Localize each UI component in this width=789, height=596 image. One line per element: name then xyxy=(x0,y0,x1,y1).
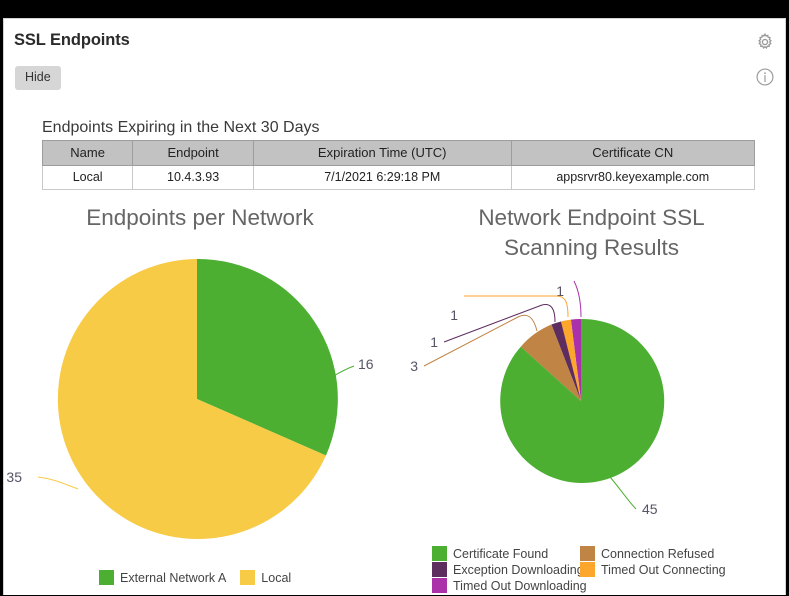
expiring-endpoints-table: Name Endpoint Expiration Time (UTC) Cert… xyxy=(42,140,755,190)
chart-title-endpoints-per-network: Endpoints per Network xyxy=(4,203,396,233)
legend-label-exception-downloading: Exception Downloading xyxy=(453,563,584,577)
legend-swatch-external-network-a xyxy=(99,570,114,585)
legend-swatch-timed-out-downloading xyxy=(432,578,447,593)
legend-item-timed-out-connecting[interactable]: Timed Out Connecting xyxy=(580,562,762,577)
endpoints-per-network-chart: Endpoints per Network 16 35 External Net… xyxy=(4,189,396,589)
ssl-endpoints-panel: SSL Endpoints Hide Endpoints Expiring in… xyxy=(3,18,786,595)
legend-item-certificate-found[interactable]: Certificate Found xyxy=(432,546,580,561)
cell-name: Local xyxy=(43,166,133,190)
legend-swatch-timed-out-connecting xyxy=(580,562,595,577)
legend-label-local: Local xyxy=(261,571,291,585)
column-header-endpoint[interactable]: Endpoint xyxy=(133,141,254,166)
legend-label-connection-refused: Connection Refused xyxy=(601,547,714,561)
legend-swatch-certificate-found xyxy=(432,546,447,561)
cell-certificate-cn: appsrvr80.keyexample.com xyxy=(511,166,754,190)
legend-ssl-scanning-results: Certificate Found Connection Refused Exc… xyxy=(432,546,782,594)
legend-label-timed-out-connecting: Timed Out Connecting xyxy=(601,563,726,577)
legend-swatch-local xyxy=(240,570,255,585)
chart-title-ssl-scanning-line2: Scanning Results xyxy=(396,233,786,263)
pie-leader-line-green-right xyxy=(610,477,636,509)
info-icon[interactable] xyxy=(755,67,775,87)
legend-label-timed-out-downloading: Timed Out Downloading xyxy=(453,579,587,593)
page-title: SSL Endpoints xyxy=(14,31,130,50)
legend-label-certificate-found: Certificate Found xyxy=(453,547,548,561)
legend-endpoints-per-network: External Network A Local xyxy=(99,570,339,586)
gear-icon[interactable] xyxy=(755,32,775,52)
legend-item-connection-refused[interactable]: Connection Refused xyxy=(580,546,762,561)
pie-value-label-green: 16 xyxy=(358,356,374,372)
pie-value-label-purple: 1 xyxy=(430,334,438,350)
column-header-certificate-cn[interactable]: Certificate CN xyxy=(511,141,754,166)
chart-title-ssl-scanning-line1: Network Endpoint SSL xyxy=(396,203,786,233)
legend-item-external-network-a[interactable]: External Network A xyxy=(99,570,226,585)
table-row[interactable]: Local 10.4.3.93 7/1/2021 6:29:18 PM apps… xyxy=(43,166,755,190)
cell-endpoint: 10.4.3.93 xyxy=(133,166,254,190)
table-title: Endpoints Expiring in the Next 30 Days xyxy=(42,119,319,137)
column-header-expiration[interactable]: Expiration Time (UTC) xyxy=(253,141,511,166)
pie-value-label-brown: 3 xyxy=(410,358,418,374)
legend-item-exception-downloading[interactable]: Exception Downloading xyxy=(432,562,580,577)
pie-leader-line-magenta xyxy=(574,281,581,317)
cell-expiration: 7/1/2021 6:29:18 PM xyxy=(253,166,511,190)
network-endpoint-ssl-scanning-results-chart: Network Endpoint SSL Scanning Results 1 … xyxy=(396,189,786,589)
pie-leader-line-orange xyxy=(464,296,568,317)
hide-button[interactable]: Hide xyxy=(15,66,61,90)
legend-item-timed-out-downloading[interactable]: Timed Out Downloading xyxy=(432,578,580,593)
endpoints-per-network-pie: 16 35 xyxy=(4,189,396,589)
legend-item-local[interactable]: Local xyxy=(240,570,291,585)
legend-swatch-connection-refused xyxy=(580,546,595,561)
pie-leader-line-yellow xyxy=(38,477,78,489)
table-header-row: Name Endpoint Expiration Time (UTC) Cert… xyxy=(43,141,755,166)
legend-label-external-network-a: External Network A xyxy=(120,571,226,585)
column-header-name[interactable]: Name xyxy=(43,141,133,166)
screenshot-root: SSL Endpoints Hide Endpoints Expiring in… xyxy=(0,0,789,596)
pie-value-label-orange: 1 xyxy=(450,307,458,323)
pie-value-label-green-right: 45 xyxy=(642,501,658,517)
legend-swatch-exception-downloading xyxy=(432,562,447,577)
pie-value-label-yellow: 35 xyxy=(6,469,22,485)
